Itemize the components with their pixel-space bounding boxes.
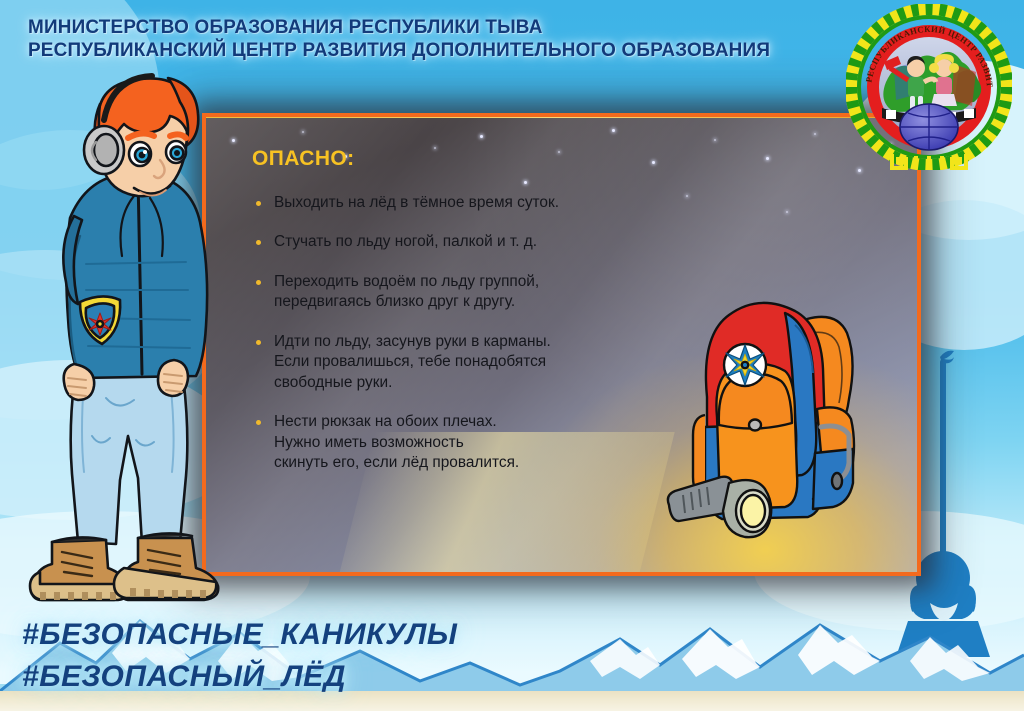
bullet-line: свободные руки. [274, 373, 682, 393]
hashtag-line-1: #БЕЗОПАСНЫЕ_КАНИКУЛЫ [22, 614, 458, 655]
bullet-line: Нести рюкзак на обоих плечах. [274, 412, 682, 432]
star-speck [612, 129, 615, 132]
list-item: Нести рюкзак на обоих плечах. Нужно имет… [252, 412, 682, 473]
list-item: Стучать по льду ногой, палкой и т. д. [252, 232, 682, 252]
star-speck [814, 133, 816, 135]
bullet-line: Нужно иметь возможность [274, 433, 682, 453]
header-line-2: РЕСПУБЛИКАНСКИЙ ЦЕНТР РАЗВИТИЯ ДОПОЛНИТЕ… [28, 39, 770, 62]
backpack-with-flashlight [661, 277, 901, 547]
board-top-highlight [204, 115, 919, 118]
cartoon-boy-with-headphones [18, 68, 254, 608]
list-item: Выходить на лёд в тёмное время суток. [252, 193, 682, 213]
bullet-line: Переходить водоём по льду группой, [274, 272, 682, 292]
hashtag-block: #БЕЗОПАСНЫЕ_КАНИКУЛЫ #БЕЗОПАСНЫЙ_ЛЁД [22, 614, 458, 697]
star-speck [480, 135, 483, 138]
list-item: Идти по льду, засунув руки в карманы. Ес… [252, 332, 682, 393]
information-board: ОПАСНО: Выходить на лёд в тёмное время с… [202, 113, 921, 576]
list-item: Переходить водоём по льду группой, перед… [252, 272, 682, 313]
hashtag-line-2: #БЕЗОПАСНЫЙ_ЛЁД [22, 656, 458, 697]
header-block: МИНИСТЕРСТВО ОБРАЗОВАНИЯ РЕСПУБЛИКИ ТЫВА… [28, 16, 793, 62]
danger-heading: ОПАСНО: [252, 147, 682, 171]
star-speck [302, 131, 304, 133]
danger-list: Выходить на лёд в тёмное время суток. Ст… [252, 193, 682, 474]
bullet-line: Идти по льду, засунув руки в карманы. [274, 332, 682, 352]
bullet-line: скинуть его, если лёд провалится. [274, 453, 682, 473]
board-content: ОПАСНО: Выходить на лёд в тёмное время с… [252, 147, 682, 493]
star-speck [786, 211, 788, 213]
republican-center-emblem: РЕСПУБЛИКАНСКИЙ ЦЕНТР РАЗВИТИЯ ДОПОЛНИТЕ… [846, 4, 1012, 170]
poster-root: МИНИСТЕРСТВО ОБРАЗОВАНИЯ РЕСПУБЛИКИ ТЫВА… [0, 0, 1024, 711]
bullet-line: Если провалишься, тебе понадобятся [274, 352, 682, 372]
header-line-1: МИНИСТЕРСТВО ОБРАЗОВАНИЯ РЕСПУБЛИКИ ТЫВА [28, 16, 770, 39]
star-speck [714, 139, 716, 141]
bullet-line: Стучать по льду ногой, палкой и т. д. [274, 232, 682, 252]
star-speck [686, 195, 688, 197]
bullet-line: Выходить на лёд в тёмное время суток. [274, 193, 682, 213]
bullet-line: передвигаясь близко друг к другу. [274, 292, 682, 312]
star-speck [766, 157, 769, 160]
